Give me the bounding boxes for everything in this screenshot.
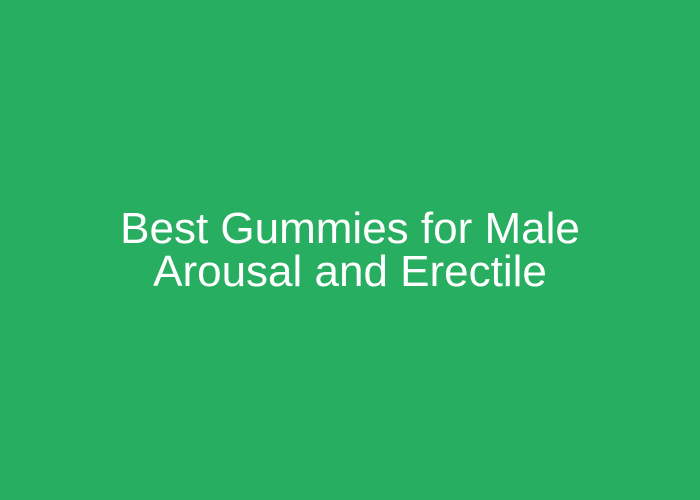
title-block: Best Gummies for Male Arousal and Erecti… — [70, 207, 630, 293]
title-card: Best Gummies for Male Arousal and Erecti… — [0, 0, 700, 500]
page-title: Best Gummies for Male Arousal and Erecti… — [70, 207, 630, 293]
